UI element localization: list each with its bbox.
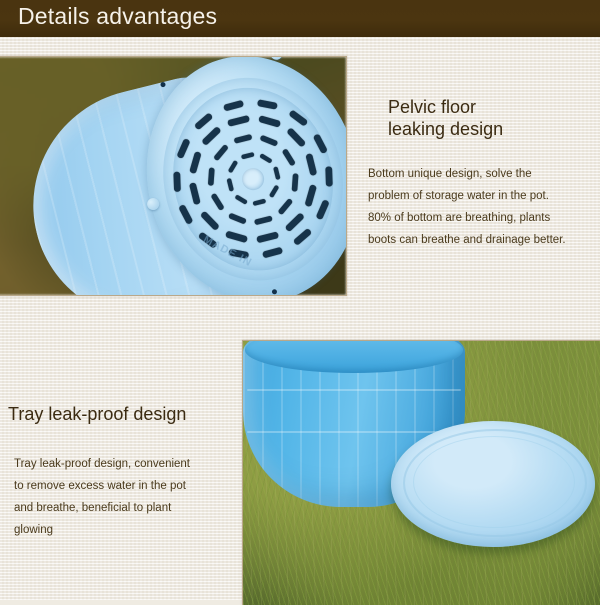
drain-slot	[189, 182, 201, 205]
drain-slot	[285, 212, 305, 232]
drain-slot	[227, 160, 238, 173]
body-line: boots can breathe and drainage better.	[368, 229, 600, 251]
drain-slot	[258, 115, 281, 128]
body-line: glowing	[14, 519, 236, 541]
drain-slot	[189, 151, 202, 174]
drain-slot	[292, 173, 299, 191]
body-line: Tray leak-proof design, convenient	[14, 453, 236, 475]
header-bar: Details advantages	[0, 0, 600, 37]
drain-slot	[252, 199, 266, 206]
drain-slot	[259, 134, 278, 146]
drain-slot	[273, 166, 280, 180]
drain-slot	[200, 211, 220, 231]
body-line: 80% of bottom are breathing, plants	[368, 207, 600, 229]
pot-bottom-photo: MADE IN	[0, 56, 347, 296]
drain-slot	[228, 212, 247, 224]
drain-slot	[316, 199, 330, 220]
drain-slot	[233, 133, 252, 143]
drain-slot	[262, 247, 283, 259]
drain-slot	[282, 148, 296, 166]
body-line: to remove excess water in the pot	[14, 475, 236, 497]
pot-rib-band	[247, 431, 461, 433]
drain-slot	[304, 184, 317, 207]
page-title: Details advantages	[18, 3, 217, 30]
pot-rib-band	[247, 389, 461, 391]
drain-slot	[305, 153, 317, 176]
drain-slot	[226, 178, 233, 192]
drain-slot	[225, 231, 248, 244]
drain-slot	[240, 152, 254, 159]
drain-slot	[194, 112, 214, 130]
pot-and-tray-photo	[242, 340, 600, 605]
pelvic-floor-heading: Pelvic floor leaking design	[388, 96, 503, 140]
drain-slot	[325, 166, 332, 186]
drain-slot	[213, 143, 229, 160]
drain-slot	[256, 231, 279, 243]
pot-rim	[245, 340, 463, 373]
drain-slot	[277, 197, 293, 214]
drain-slot	[227, 115, 250, 127]
drain-slot	[201, 126, 221, 146]
drain-slot	[257, 99, 278, 109]
drain-slot	[286, 127, 306, 147]
body-line: problem of storage water in the pot.	[368, 185, 600, 207]
foot-nub	[269, 56, 284, 61]
tray-inner-lip	[413, 436, 575, 528]
tray-disc	[391, 421, 595, 547]
drain-slot	[173, 172, 180, 192]
drain-slot	[293, 228, 313, 246]
drain-slot	[210, 192, 224, 210]
drain-slot	[176, 138, 190, 159]
vent-pinhole	[271, 289, 277, 295]
tray-leak-proof-body: Tray leak-proof design, convenient to re…	[14, 453, 236, 541]
tray-leak-proof-heading: Tray leak-proof design	[8, 403, 186, 425]
drain-slot	[268, 185, 279, 198]
drain-slot	[234, 194, 247, 205]
drainage-slot-disc	[154, 71, 347, 288]
body-line: Bottom unique design, solve the	[368, 163, 600, 185]
product-detail-page: Details advantages MADE IN Pelvic floor …	[0, 0, 600, 600]
drain-slot	[259, 153, 272, 164]
drain-slot	[223, 100, 244, 112]
center-hub	[240, 166, 267, 193]
drain-slot	[208, 167, 215, 185]
drain-slot	[254, 215, 273, 225]
body-line: and breathe, beneficial to plant	[14, 497, 236, 519]
pelvic-floor-body: Bottom unique design, solve the problem …	[368, 163, 600, 251]
